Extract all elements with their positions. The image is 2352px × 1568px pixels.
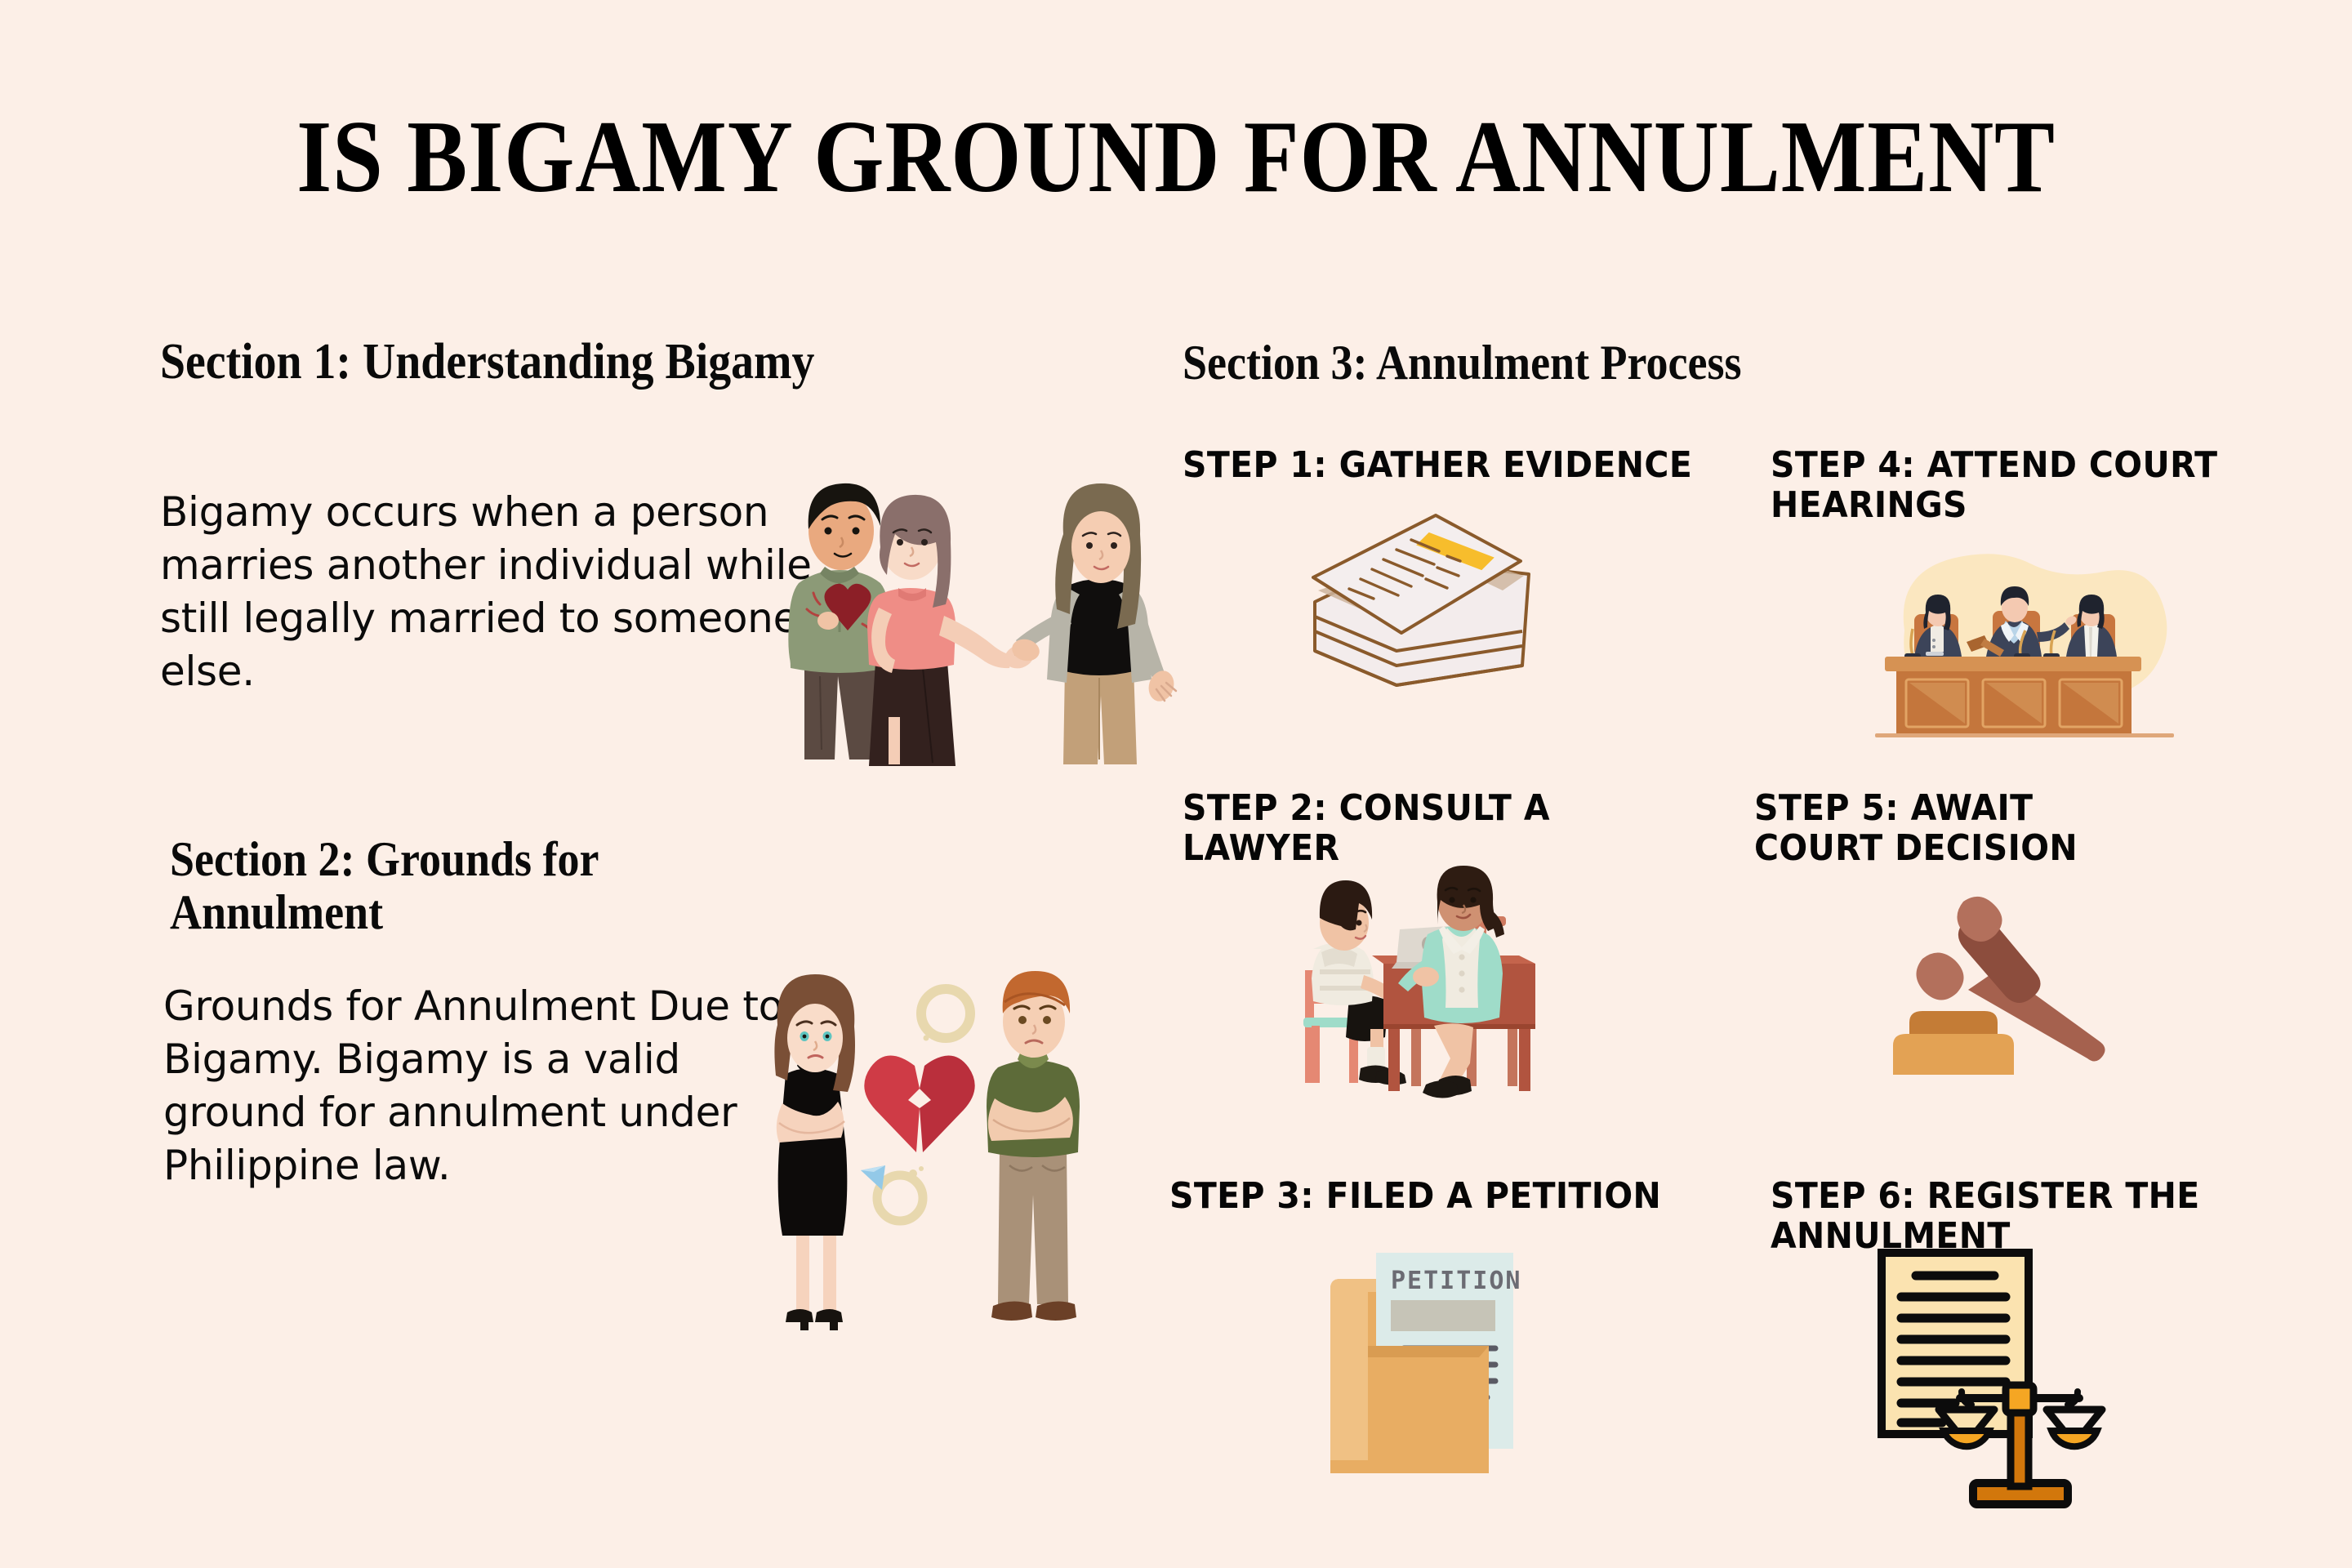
- step-2-label: STEP 2: CONSULT A LAWYER: [1183, 788, 1608, 869]
- step-4-label: STEP 4: ATTEND COURT HEARINGS: [1771, 445, 2242, 526]
- step-3-label: STEP 3: FILED A PETITION: [1169, 1176, 1701, 1216]
- section-2-heading: Section 2: Grounds for Annulment: [170, 833, 817, 939]
- step-1-label: STEP 1: GATHER EVIDENCE: [1183, 445, 1760, 485]
- page-title: IS BIGAMY GROUND FOR ANNULMENT: [141, 106, 2211, 209]
- gavel-icon: [1862, 890, 2123, 1102]
- document-scales-of-justice-icon: [1870, 1241, 2115, 1519]
- courtroom-judges-icon: [1862, 523, 2189, 743]
- section-2-body: Grounds for Annulment Due to Bigamy. Big…: [163, 980, 808, 1192]
- section-3-heading: Section 3: Annulment Process: [1183, 336, 2028, 390]
- section-1-body: Bigamy occurs when a person marries anot…: [160, 486, 813, 698]
- section-1-heading: Section 1: Understanding Bigamy: [160, 335, 822, 390]
- petition-document-label: PETITION: [1391, 1267, 1522, 1295]
- couple-with-third-person-illustration: [784, 472, 1225, 766]
- step-5-label: STEP 5: AWAIT COURT DECISION: [1754, 788, 2164, 869]
- stack-of-documents-icon: [1298, 510, 1592, 719]
- lawyer-consultation-icon: [1274, 866, 1617, 1111]
- separated-couple-broken-heart-illustration: [759, 960, 1102, 1360]
- petition-folder-icon: PETITION: [1319, 1241, 1539, 1478]
- infographic-poster: IS BIGAMY GROUND FOR ANNULMENT Section 1…: [0, 0, 2352, 1568]
